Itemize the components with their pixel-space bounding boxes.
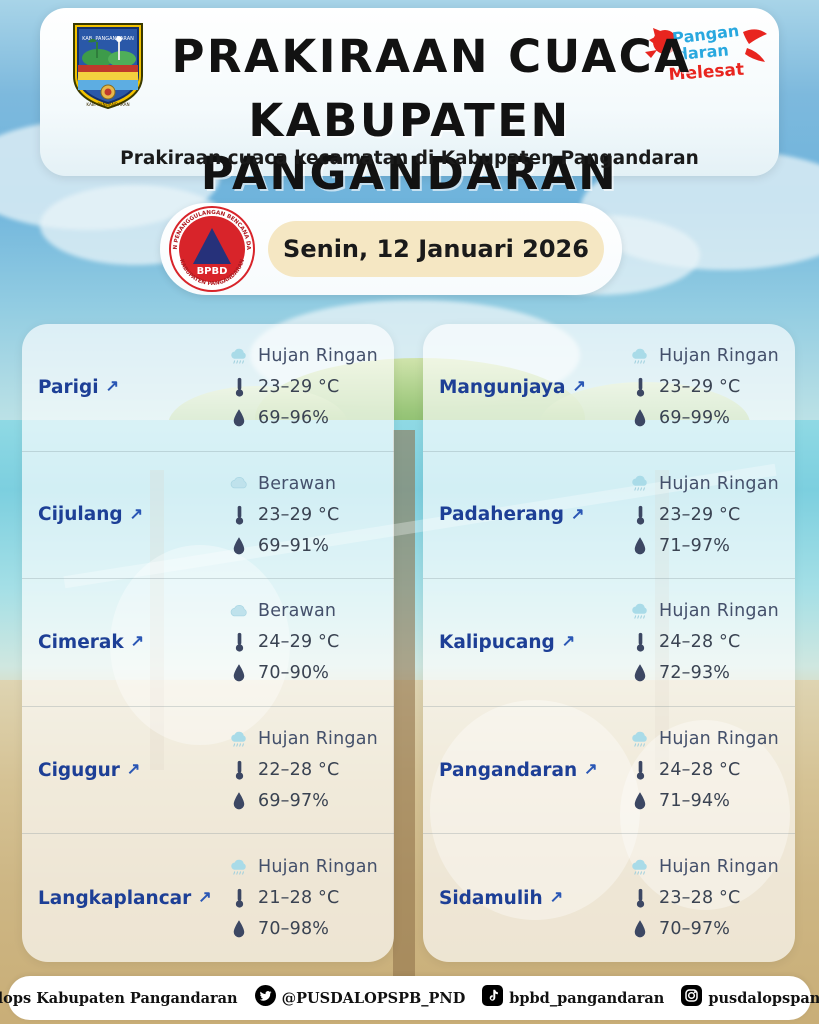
rain-cloud-icon bbox=[228, 344, 250, 369]
forecast-column-left: Parigi↗Hujan Ringan23–29 °C69–96%Cijulan… bbox=[22, 324, 394, 962]
thermometer-icon bbox=[629, 887, 651, 909]
arrow-up-right-icon[interactable]: ↗ bbox=[571, 507, 584, 523]
humidity-drop-icon bbox=[633, 791, 647, 811]
thermometer-icon bbox=[228, 504, 250, 526]
arrow-up-right-icon[interactable]: ↗ bbox=[127, 762, 140, 778]
rain-cloud-icon bbox=[629, 599, 651, 624]
temperature-row: 23–29 °C bbox=[228, 375, 388, 400]
thermometer-icon bbox=[634, 759, 647, 781]
humidity-row: 71–97% bbox=[629, 533, 789, 558]
social-handle: bpbd_pangandaran bbox=[509, 990, 664, 1007]
humidity-row: 70–98% bbox=[228, 917, 388, 942]
condition-text: Hujan Ringan bbox=[659, 346, 779, 366]
condition-row: Berawan bbox=[228, 599, 388, 624]
humidity-drop-icon bbox=[633, 408, 647, 428]
district-name-group[interactable]: Parigi↗ bbox=[22, 377, 228, 398]
humidity-drop-icon bbox=[228, 919, 250, 939]
humidity-text: 70–98% bbox=[258, 919, 329, 939]
humidity-row: 72–93% bbox=[629, 661, 789, 686]
temperature-text: 22–28 °C bbox=[258, 760, 339, 780]
humidity-text: 69–91% bbox=[258, 536, 329, 556]
thermometer-icon bbox=[629, 631, 651, 653]
forecast-row[interactable]: Padaherang↗Hujan Ringan23–29 °C71–97% bbox=[423, 452, 795, 580]
social-link[interactable]: pusdalopspangandaran bbox=[681, 985, 819, 1011]
temperature-text: 24–29 °C bbox=[258, 632, 339, 652]
temperature-text: 23–29 °C bbox=[659, 377, 740, 397]
condition-row: Hujan Ringan bbox=[629, 855, 789, 880]
district-name-group[interactable]: Sidamulih↗ bbox=[423, 888, 629, 909]
thermometer-icon bbox=[233, 759, 246, 781]
humidity-text: 70–90% bbox=[258, 663, 329, 683]
forecast-row[interactable]: Pangandaran↗Hujan Ringan24–28 °C71–94% bbox=[423, 707, 795, 835]
social-link[interactable]: bpbd_pangandaran bbox=[482, 985, 664, 1011]
thermometer-icon bbox=[634, 631, 647, 653]
arrow-up-right-icon[interactable]: ↗ bbox=[130, 507, 143, 523]
condition-text: Hujan Ringan bbox=[659, 474, 779, 494]
thermometer-icon bbox=[629, 759, 651, 781]
social-handle: Pusdalops Kabupaten Pangandaran bbox=[0, 990, 238, 1007]
instagram-icon[interactable] bbox=[681, 985, 702, 1011]
forecast-values: Hujan Ringan23–29 °C71–97% bbox=[629, 471, 795, 558]
page-subtitle: Prakiraan cuaca kecamatan di Kabupaten P… bbox=[40, 148, 779, 169]
forecast-values: Hujan Ringan21–28 °C70–98% bbox=[228, 855, 394, 942]
district-name-group[interactable]: Cijulang↗ bbox=[22, 504, 228, 525]
district-name: Pangandaran bbox=[439, 760, 577, 781]
district-name-group[interactable]: Cimerak↗ bbox=[22, 632, 228, 653]
temperature-text: 21–28 °C bbox=[258, 888, 339, 908]
rain-cloud-icon bbox=[629, 727, 651, 752]
forecast-values: Hujan Ringan23–28 °C70–97% bbox=[629, 855, 795, 942]
cloud-icon bbox=[228, 599, 250, 624]
condition-text: Hujan Ringan bbox=[258, 729, 378, 749]
social-handle: @PUSDALOPSPB_PND bbox=[282, 990, 466, 1007]
humidity-text: 72–93% bbox=[659, 663, 730, 683]
arrow-up-right-icon[interactable]: ↗ bbox=[106, 379, 119, 395]
humidity-drop-icon bbox=[232, 408, 246, 428]
rain-cloud-icon bbox=[629, 855, 651, 880]
rain-cloud-icon bbox=[228, 727, 250, 752]
background-pier-post bbox=[393, 430, 415, 1000]
thermometer-icon bbox=[629, 504, 651, 526]
humidity-drop-icon bbox=[629, 919, 651, 939]
temperature-row: 21–28 °C bbox=[228, 886, 388, 911]
thermometer-icon bbox=[634, 376, 647, 398]
district-name: Cigugur bbox=[38, 760, 120, 781]
rain-cloud-icon bbox=[629, 344, 651, 369]
humidity-drop-icon bbox=[232, 536, 246, 556]
forecast-values: Hujan Ringan23–29 °C69–96% bbox=[228, 344, 394, 431]
forecast-row[interactable]: Kalipucang↗Hujan Ringan24–28 °C72–93% bbox=[423, 579, 795, 707]
arrow-up-right-icon[interactable]: ↗ bbox=[562, 634, 575, 650]
social-handle: pusdalopspangandaran bbox=[708, 990, 819, 1007]
district-name: Cijulang bbox=[38, 504, 123, 525]
rain-cloud-icon bbox=[629, 855, 651, 880]
thermometer-icon bbox=[233, 887, 246, 909]
svg-text:BPBD: BPBD bbox=[197, 266, 228, 277]
condition-row: Hujan Ringan bbox=[629, 727, 789, 752]
forecast-row[interactable]: Mangunjaya↗Hujan Ringan23–29 °C69–99% bbox=[423, 324, 795, 452]
forecast-date-text: Senin, 12 Januari 2026 bbox=[283, 235, 589, 263]
rain-cloud-icon bbox=[629, 471, 651, 496]
humidity-drop-icon bbox=[629, 408, 651, 428]
condition-row: Hujan Ringan bbox=[629, 599, 789, 624]
cloud-icon bbox=[228, 599, 250, 624]
humidity-drop-icon bbox=[633, 536, 647, 556]
thermometer-icon bbox=[233, 504, 246, 526]
district-name: Padaherang bbox=[439, 504, 564, 525]
forecast-values: Hujan Ringan22–28 °C69–97% bbox=[228, 727, 394, 814]
humidity-drop-icon bbox=[633, 663, 647, 683]
humidity-row: 69–97% bbox=[228, 789, 388, 814]
rain-cloud-icon bbox=[228, 855, 250, 880]
temperature-text: 23–28 °C bbox=[659, 888, 740, 908]
page-title-line2: KABUPATEN PANGANDARAN bbox=[40, 94, 779, 200]
district-name: Cimerak bbox=[38, 632, 124, 653]
temperature-row: 23–29 °C bbox=[228, 502, 388, 527]
humidity-row: 69–99% bbox=[629, 406, 789, 431]
humidity-drop-icon bbox=[232, 919, 246, 939]
district-name-group[interactable]: Langkaplancar↗ bbox=[22, 888, 228, 909]
condition-text: Hujan Ringan bbox=[659, 729, 779, 749]
condition-row: Hujan Ringan bbox=[228, 855, 388, 880]
district-name-group[interactable]: Pangandaran↗ bbox=[423, 760, 629, 781]
temperature-row: 23–29 °C bbox=[629, 502, 789, 527]
temperature-text: 24–28 °C bbox=[659, 760, 740, 780]
twitter-icon[interactable] bbox=[255, 985, 276, 1011]
temperature-row: 24–28 °C bbox=[629, 758, 789, 783]
header-card: KAB. PANGANDARAN KAB. PANGANDARAN bbox=[40, 8, 779, 176]
arrow-up-right-icon[interactable]: ↗ bbox=[198, 890, 211, 906]
forecast-values: Hujan Ringan24–28 °C71–94% bbox=[629, 727, 795, 814]
thermometer-icon bbox=[233, 376, 246, 398]
humidity-row: 69–91% bbox=[228, 533, 388, 558]
arrow-up-right-icon[interactable]: ↗ bbox=[550, 890, 563, 906]
thermometer-icon bbox=[228, 376, 250, 398]
condition-text: Berawan bbox=[258, 601, 336, 621]
thermometer-icon bbox=[228, 631, 250, 653]
district-name: Sidamulih bbox=[439, 888, 543, 909]
forecast-row[interactable]: Sidamulih↗Hujan Ringan23–28 °C70–97% bbox=[423, 834, 795, 962]
district-name: Mangunjaya bbox=[439, 377, 565, 398]
forecast-row[interactable]: Cijulang↗Berawan23–29 °C69–91% bbox=[22, 452, 394, 580]
condition-row: Berawan bbox=[228, 471, 388, 496]
weather-forecast-poster: KAB. PANGANDARAN KAB. PANGANDARAN bbox=[0, 0, 819, 1024]
humidity-text: 71–94% bbox=[659, 791, 730, 811]
social-media-footer: Pusdalops Kabupaten Pangandaran@PUSDALOP… bbox=[8, 976, 811, 1020]
arrow-up-right-icon[interactable]: ↗ bbox=[584, 762, 597, 778]
district-name-group[interactable]: Kalipucang↗ bbox=[423, 632, 629, 653]
social-link[interactable]: Pusdalops Kabupaten Pangandaran bbox=[0, 985, 238, 1011]
condition-row: Hujan Ringan bbox=[228, 344, 388, 369]
forecast-row[interactable]: Cigugur↗Hujan Ringan22–28 °C69–97% bbox=[22, 707, 394, 835]
condition-text: Hujan Ringan bbox=[258, 346, 378, 366]
cloud-icon bbox=[228, 471, 250, 496]
district-name: Kalipucang bbox=[439, 632, 555, 653]
temperature-row: 24–28 °C bbox=[629, 630, 789, 655]
rain-cloud-icon bbox=[629, 344, 651, 369]
condition-text: Hujan Ringan bbox=[659, 601, 779, 621]
condition-text: Hujan Ringan bbox=[258, 857, 378, 877]
condition-row: Hujan Ringan bbox=[629, 344, 789, 369]
thermometer-icon bbox=[634, 887, 647, 909]
forecast-values: Hujan Ringan23–29 °C69–99% bbox=[629, 344, 795, 431]
temperature-row: 22–28 °C bbox=[228, 758, 388, 783]
forecast-date-pill: Senin, 12 Januari 2026 bbox=[268, 221, 604, 277]
thermometer-icon bbox=[228, 887, 250, 909]
rain-cloud-icon bbox=[629, 471, 651, 496]
temperature-row: 23–29 °C bbox=[629, 375, 789, 400]
humidity-drop-icon bbox=[228, 663, 250, 683]
page-title-line1: PRAKIRAAN CUACA bbox=[40, 30, 779, 83]
temperature-text: 23–29 °C bbox=[258, 377, 339, 397]
forecast-column-right: Mangunjaya↗Hujan Ringan23–29 °C69–99%Pad… bbox=[423, 324, 795, 962]
humidity-text: 69–96% bbox=[258, 408, 329, 428]
temperature-row: 24–29 °C bbox=[228, 630, 388, 655]
rain-cloud-icon bbox=[629, 727, 651, 752]
district-name-group[interactable]: Mangunjaya↗ bbox=[423, 377, 629, 398]
thermometer-icon bbox=[634, 504, 647, 526]
humidity-text: 70–97% bbox=[659, 919, 730, 939]
bpbd-logo-icon: BPBD BADAN PENANGGULANGAN BENCANA DAERAH… bbox=[169, 206, 255, 292]
forecast-row[interactable]: Parigi↗Hujan Ringan23–29 °C69–96% bbox=[22, 324, 394, 452]
temperature-row: 23–28 °C bbox=[629, 886, 789, 911]
humidity-drop-icon bbox=[629, 791, 651, 811]
humidity-text: 71–97% bbox=[659, 536, 730, 556]
humidity-drop-icon bbox=[232, 791, 246, 811]
tiktok-icon[interactable] bbox=[482, 985, 503, 1011]
forecast-row[interactable]: Langkaplancar↗Hujan Ringan21–28 °C70–98% bbox=[22, 834, 394, 962]
cloud-icon bbox=[228, 471, 250, 496]
humidity-drop-icon bbox=[629, 663, 651, 683]
humidity-text: 69–99% bbox=[659, 408, 730, 428]
humidity-drop-icon bbox=[232, 663, 246, 683]
humidity-drop-icon bbox=[228, 536, 250, 556]
temperature-text: 23–29 °C bbox=[659, 505, 740, 525]
humidity-drop-icon bbox=[633, 919, 647, 939]
condition-text: Berawan bbox=[258, 474, 336, 494]
humidity-drop-icon bbox=[228, 408, 250, 428]
social-link[interactable]: @PUSDALOPSPB_PND bbox=[255, 985, 466, 1011]
rain-cloud-icon bbox=[228, 855, 250, 880]
rain-cloud-icon bbox=[228, 344, 250, 369]
humidity-drop-icon bbox=[629, 536, 651, 556]
humidity-row: 71–94% bbox=[629, 789, 789, 814]
humidity-text: 69–97% bbox=[258, 791, 329, 811]
forecast-row[interactable]: Cimerak↗Berawan24–29 °C70–90% bbox=[22, 579, 394, 707]
humidity-drop-icon bbox=[228, 791, 250, 811]
condition-row: Hujan Ringan bbox=[228, 727, 388, 752]
district-name: Langkaplancar bbox=[38, 888, 191, 909]
rain-cloud-icon bbox=[629, 599, 651, 624]
condition-row: Hujan Ringan bbox=[629, 471, 789, 496]
humidity-row: 69–96% bbox=[228, 406, 388, 431]
temperature-text: 24–28 °C bbox=[659, 632, 740, 652]
arrow-up-right-icon[interactable]: ↗ bbox=[572, 379, 585, 395]
arrow-up-right-icon[interactable]: ↗ bbox=[131, 634, 144, 650]
thermometer-icon bbox=[629, 376, 651, 398]
thermometer-icon bbox=[233, 631, 246, 653]
forecast-values: Berawan23–29 °C69–91% bbox=[228, 471, 394, 558]
forecast-values: Berawan24–29 °C70–90% bbox=[228, 599, 394, 686]
humidity-row: 70–90% bbox=[228, 661, 388, 686]
condition-text: Hujan Ringan bbox=[659, 857, 779, 877]
district-name-group[interactable]: Cigugur↗ bbox=[22, 760, 228, 781]
forecast-values: Hujan Ringan24–28 °C72–93% bbox=[629, 599, 795, 686]
rain-cloud-icon bbox=[228, 727, 250, 752]
district-name-group[interactable]: Padaherang↗ bbox=[423, 504, 629, 525]
temperature-text: 23–29 °C bbox=[258, 505, 339, 525]
thermometer-icon bbox=[228, 759, 250, 781]
humidity-row: 70–97% bbox=[629, 917, 789, 942]
district-name: Parigi bbox=[38, 377, 99, 398]
date-bar: BPBD BADAN PENANGGULANGAN BENCANA DAERAH… bbox=[160, 203, 622, 295]
